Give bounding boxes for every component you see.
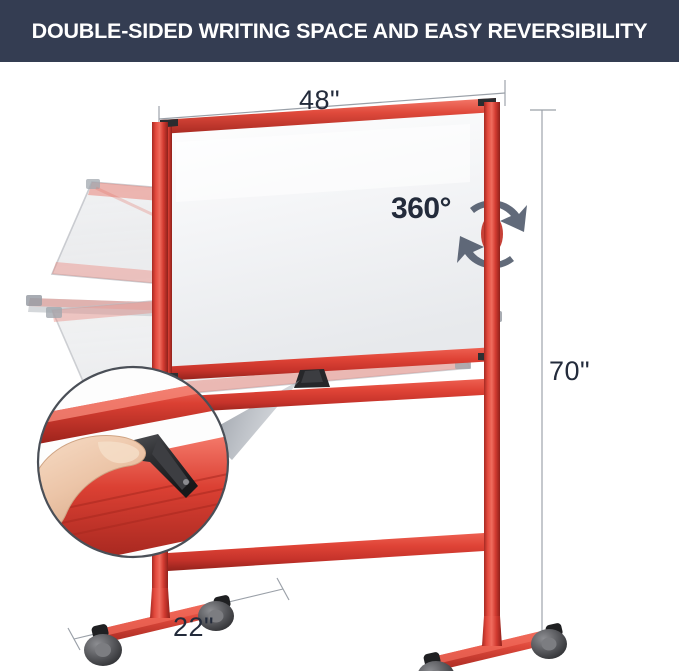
- dimension-label-height: 70": [549, 356, 590, 387]
- dimension-label-depth: 22": [173, 612, 214, 643]
- rotation-badge-label: 360°: [391, 192, 451, 226]
- infographic-canvas: DOUBLE-SIDED WRITING SPACE AND EASY REVE…: [0, 0, 679, 671]
- whiteboard-panel: [160, 98, 496, 381]
- header-band: DOUBLE-SIDED WRITING SPACE AND EASY REVE…: [0, 0, 679, 62]
- dimension-label-width: 48": [299, 85, 340, 116]
- lock-lever: [294, 369, 330, 388]
- page-title: DOUBLE-SIDED WRITING SPACE AND EASY REVE…: [0, 0, 679, 62]
- lock-lever-magnifier: [28, 367, 228, 572]
